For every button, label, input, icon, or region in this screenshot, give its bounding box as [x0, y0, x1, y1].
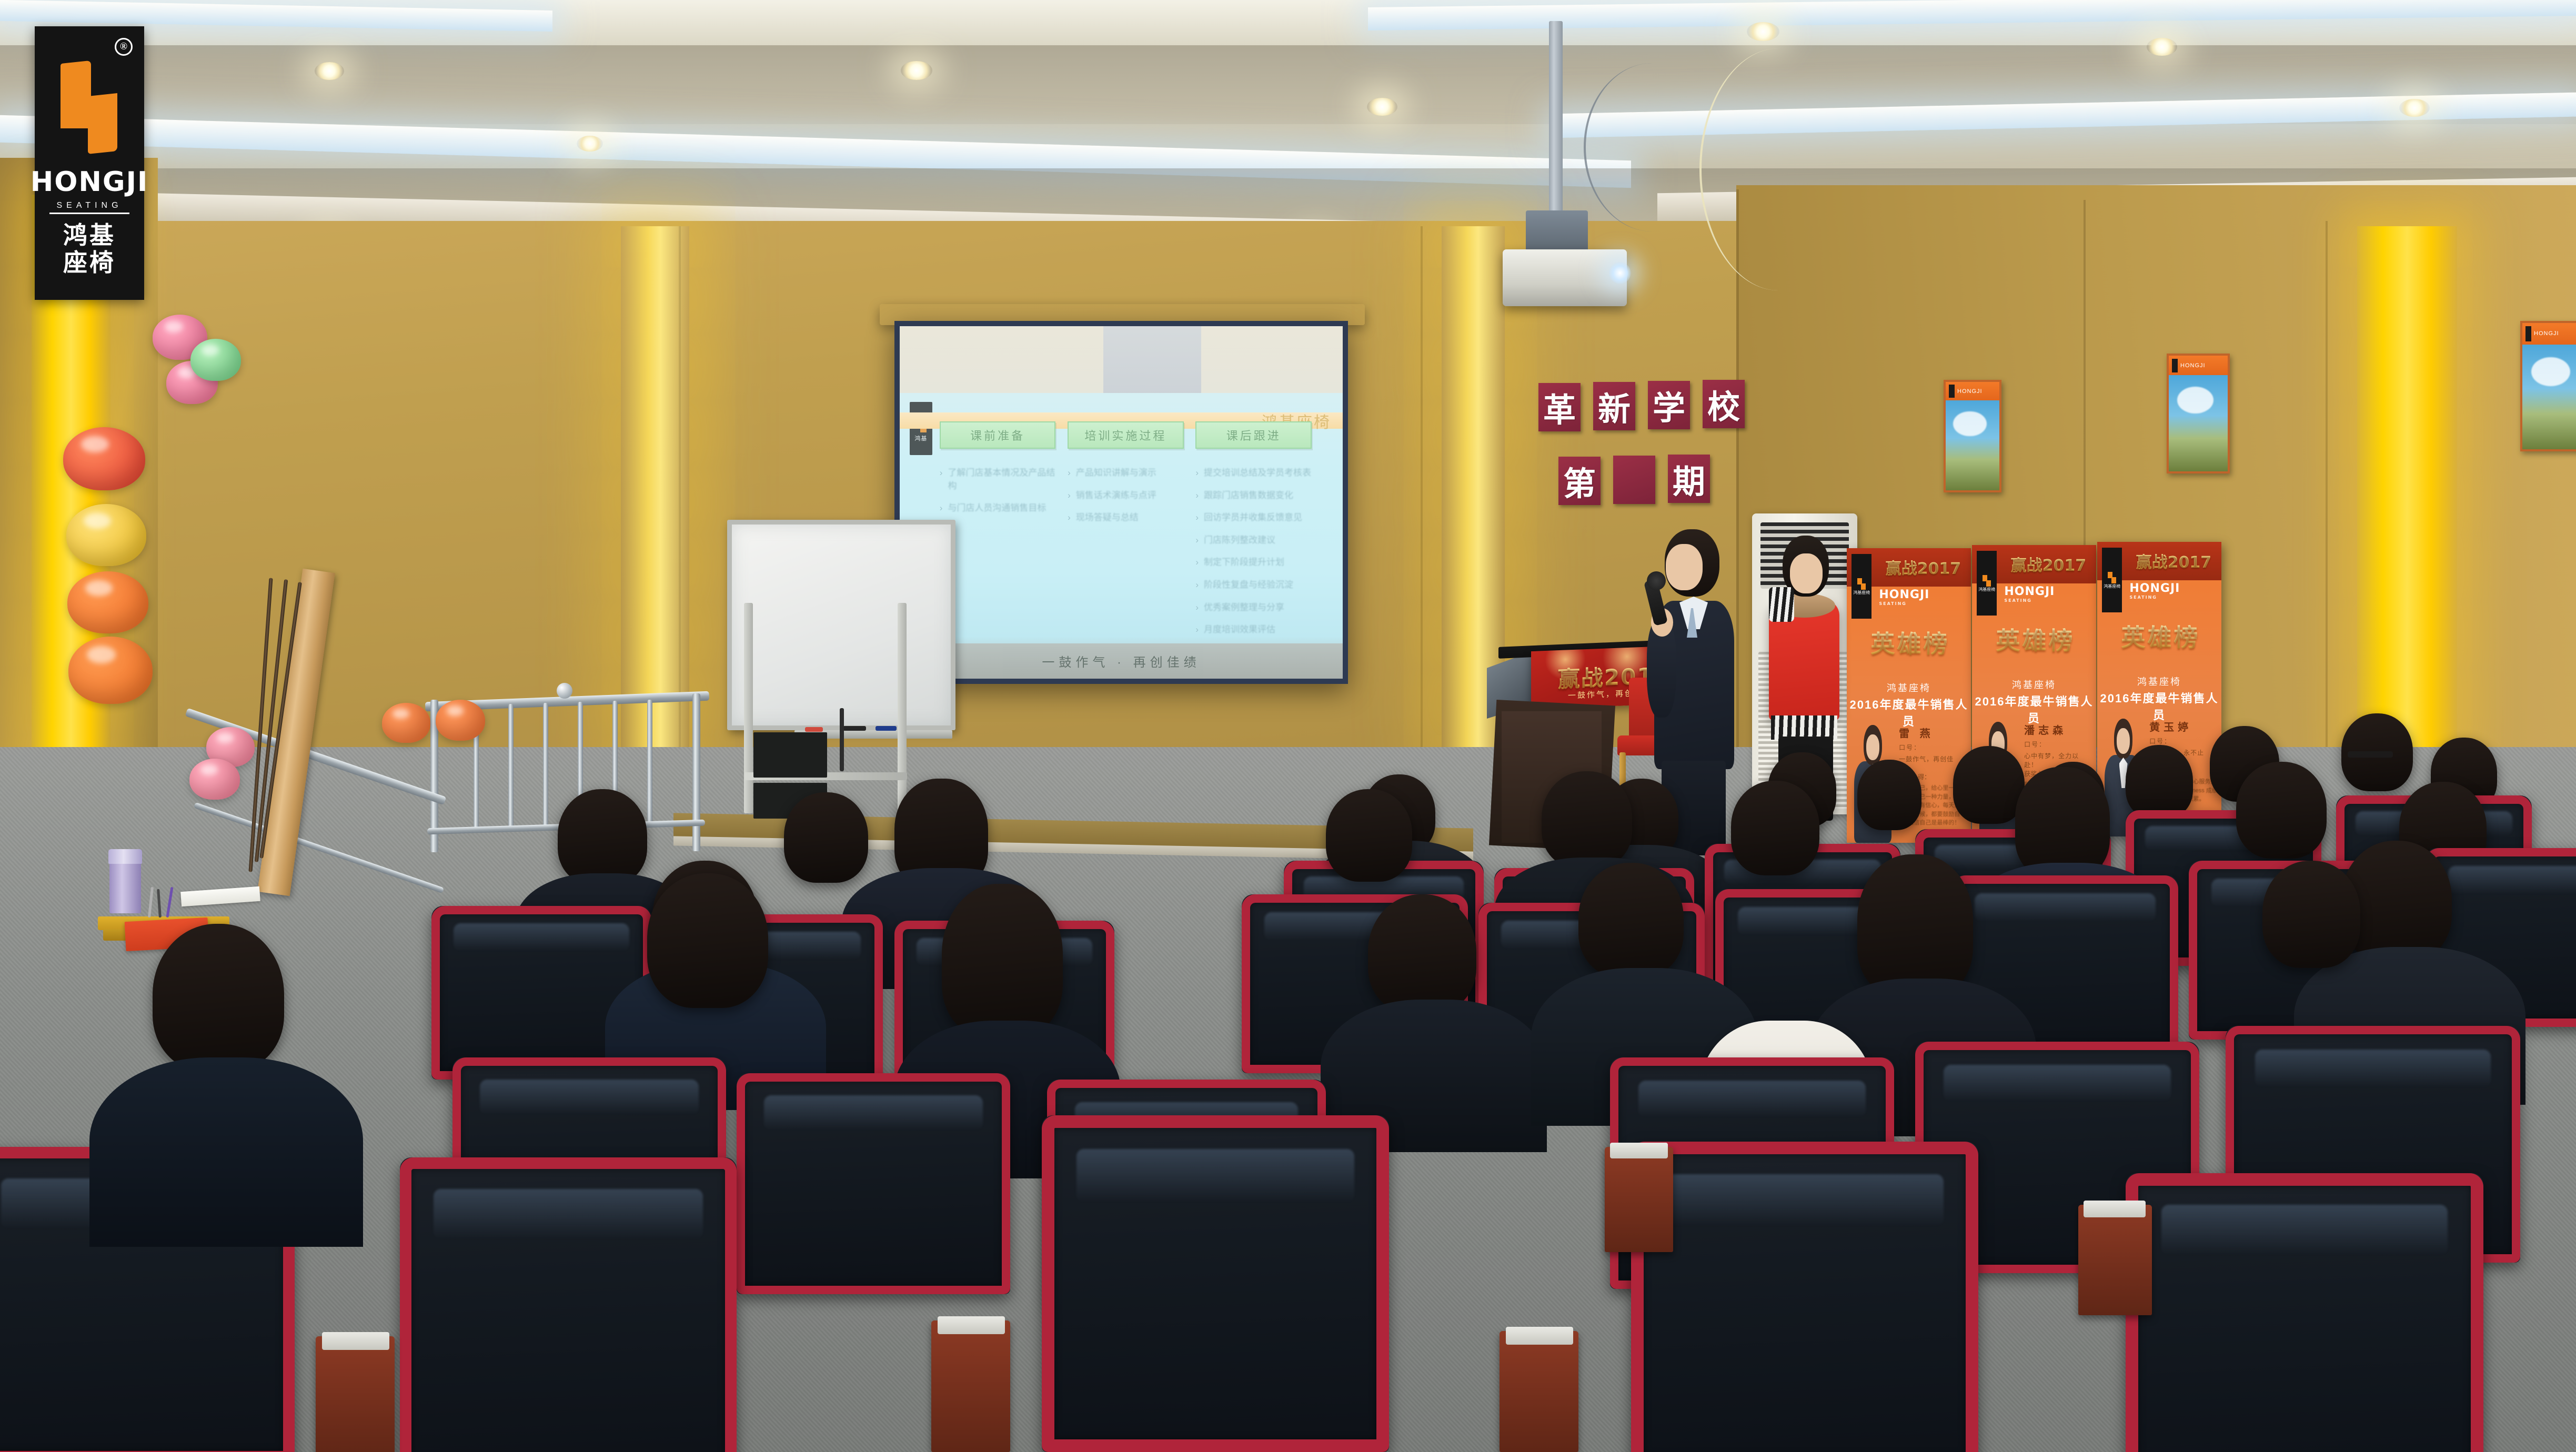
bullet-icon: ›	[940, 502, 943, 515]
downlight-6	[2399, 99, 2430, 117]
audience-head-near-3	[1368, 894, 1476, 1013]
whiteboard	[727, 520, 955, 730]
whiteboard-marker-red	[805, 727, 823, 732]
slide-column-2-header: 培训实施过程	[1068, 421, 1184, 449]
seat-armrest-pad-4	[1610, 1143, 1668, 1158]
banner-brand-text: HONGJI	[2129, 582, 2180, 595]
downlight-8	[577, 136, 603, 152]
slide-column-3-header: 课后跟进	[1195, 421, 1312, 449]
slide-bullet: ›了解门店基本情况及产品结构	[940, 467, 1056, 492]
slide-columns: 课前准备 ›了解门店基本情况及产品结构 ›与门店人员沟通销售目标 培训实施过程 …	[940, 421, 1312, 640]
bullet-icon: ›	[1068, 489, 1071, 502]
seat-armrest-1	[316, 1336, 395, 1452]
audience-head-mid-1	[558, 789, 647, 885]
banner-subline-2: 2016年度最牛销售人员	[1972, 692, 2096, 726]
banner-slogan-label: 口号：	[2149, 737, 2171, 745]
banner-brand-sub: SEATING	[2129, 595, 2180, 600]
projector-mount-pipe	[1549, 21, 1563, 242]
wall-poster-1: HONGJI	[1944, 380, 2001, 492]
balloon-orange-1	[67, 571, 148, 633]
seat-sheen	[1666, 1174, 1944, 1226]
whiteboard-surface	[732, 525, 951, 725]
poster-image	[2522, 345, 2576, 449]
slide-bullet: ›月度培训效果评估	[1195, 623, 1312, 637]
projector-cable-yellow	[1699, 48, 1857, 290]
slide-column-3-list: ›提交培训总结及学员考核表 ›跟踪门店销售数据变化 ›回访学员并收集反馈意见 ›…	[1195, 467, 1312, 637]
audience-head-back-4	[1857, 760, 1921, 830]
banner-subline-1: 鸿基座椅	[1972, 678, 2096, 691]
slide-bullet: ›阶段性复盘与经验沉淀	[1195, 579, 1312, 592]
slide-bullet: ›提交培训总结及学员考核表	[1195, 467, 1312, 480]
audience-head-near-4	[1578, 863, 1684, 977]
balloon-yellow-1	[66, 504, 146, 566]
slide-bullet-text: 跟踪门店销售数据变化	[1204, 489, 1312, 502]
slide-bullet-text: 优秀案例整理与分享	[1204, 601, 1312, 614]
slide-bullet: ›制定下阶段提升计划	[1195, 556, 1312, 569]
seat-sheen	[454, 923, 629, 951]
projector	[1503, 249, 1627, 306]
poster-cloud-shape	[1953, 411, 1986, 437]
audience-head-near-5	[1857, 854, 1973, 996]
wall-sign-char-2: 新	[1593, 382, 1635, 430]
audience-head-white-jacket	[2262, 861, 2360, 968]
banner-subline-1: 鸿基座椅	[2097, 674, 2221, 688]
bullet-icon: ›	[1195, 579, 1199, 592]
bullet-icon: ›	[1195, 489, 1199, 502]
seat-near-2	[737, 1073, 1010, 1294]
poster-cloud-shape	[2531, 357, 2570, 387]
whiteboard-leg-right	[898, 603, 907, 813]
balloon-orange-3	[382, 703, 430, 743]
slide-bullet: ›门店陈列整改建议	[1195, 534, 1312, 547]
banner-logo: 鸿基座椅	[1977, 551, 1997, 616]
slide-gray-block	[1103, 326, 1201, 393]
poster-header: HONGJI	[1946, 382, 1999, 400]
projector-lens	[1609, 262, 1631, 284]
assistant-striped-top	[1769, 587, 1794, 622]
poster-image	[1946, 400, 1999, 490]
banner-brand-en: HONGJISEATING	[2004, 585, 2055, 603]
whiteboard-eraser-strap	[840, 708, 844, 771]
slide-bullet-text: 现场答疑与总结	[1076, 511, 1184, 525]
banner-subline-2: 2016年度最牛销售人员	[2097, 689, 2221, 723]
projector-cable-gray	[1584, 63, 1720, 231]
seat-armrest-5	[2078, 1205, 2152, 1315]
stair-rail-knob	[557, 683, 572, 699]
seat-sheen	[2161, 1205, 2448, 1255]
seat-armrest-pad-1	[322, 1332, 389, 1350]
logo-divider	[49, 213, 129, 214]
poster-brand: HONGJI	[2534, 330, 2559, 337]
banner-logo-cn: 鸿基座椅	[1853, 591, 1870, 595]
slide-bullet-text: 阶段性复盘与经验沉淀	[1204, 579, 1312, 592]
eyeglasses-icon	[2348, 751, 2393, 758]
seat-sheen	[764, 1095, 983, 1131]
banner-subline-1: 鸿基座椅	[1847, 681, 1971, 694]
slide-logo-cn: 鸿基	[914, 434, 927, 442]
slide-bullet-text: 制定下阶段提升计划	[1204, 556, 1312, 569]
poster-logo-icon	[2172, 359, 2178, 372]
slide-footer: 一鼓作气 · 再创佳绩	[900, 643, 1343, 679]
poster-logo-icon	[2525, 326, 2531, 341]
wall-seam-5	[2326, 221, 2328, 821]
slide-bullet: ›销售话术演练与点评	[1068, 489, 1184, 502]
slide-bullet: ›产品知识讲解与演示	[1068, 467, 1184, 480]
seat-sheen	[2448, 866, 2576, 894]
seat-armrest-pad-5	[2084, 1201, 2146, 1217]
wall-poster-2: HONGJI	[2167, 354, 2230, 473]
brand-mark-icon	[2108, 572, 2116, 583]
banner-slogan-label: 口号：	[1899, 743, 1921, 752]
brand-name-cn-line1: 鸿基	[63, 223, 116, 249]
banner-slogan-label: 口号：	[2024, 740, 2046, 749]
balloon-green-1	[190, 339, 241, 381]
wall-poster-3: HONGJI	[2520, 321, 2576, 451]
banner-brand-text: HONGJI	[2004, 585, 2055, 598]
seat-sheen	[1076, 1149, 1354, 1203]
balloon-orange-4	[436, 700, 485, 741]
audience-head-mid-3	[784, 792, 868, 883]
audience-head-front-2	[647, 873, 768, 1008]
seat-armrest-pad-2	[938, 1316, 1005, 1334]
banner-brand-en: HONGJISEATING	[2129, 582, 2180, 600]
wall-sign-row2-blank	[1613, 456, 1655, 504]
audience-head-mid-4	[1326, 789, 1412, 882]
audience-head-mid-8	[2236, 762, 2327, 859]
balloon-orange-2	[68, 637, 153, 704]
slide-bullet-text: 门店陈列整改建议	[1204, 534, 1312, 547]
slide-bullet-text: 与门店人员沟通销售目标	[948, 502, 1055, 515]
slide-column-3: 课后跟进 ›提交培训总结及学员考核表 ›跟踪门店销售数据变化 ›回访学员并收集反…	[1195, 421, 1312, 640]
banner-hero-title: 英雄榜	[2107, 619, 2214, 653]
projection-screen-surface: 鸿基 鸿基座椅 课前准备 ›了解门店基本情况及产品结构 ›与门店人员沟通销售目标…	[900, 326, 1343, 679]
poster-brand: HONGJI	[1957, 388, 1983, 395]
assistant-face	[1790, 553, 1823, 593]
slide-bullet: ›与门店人员沟通销售目标	[940, 502, 1056, 515]
audience-head-mid-6	[1731, 781, 1819, 875]
slide-bullet-text: 销售话术演练与点评	[1076, 489, 1184, 502]
slide-column-1-header: 课前准备	[940, 421, 1056, 449]
whiteboard-black-panel-1	[753, 732, 827, 778]
audience-head-back-7	[2126, 745, 2193, 819]
registered-trademark-icon: ®	[115, 38, 133, 56]
presenter-face	[1666, 544, 1703, 590]
bullet-icon: ›	[1068, 511, 1071, 525]
banner-headline: 赢战2017	[2011, 552, 2087, 576]
stair-rail-baluster-3	[543, 703, 548, 829]
audience-head-back-5	[1953, 746, 2025, 824]
bullet-icon: ›	[1195, 556, 1199, 569]
wall-sign-char-1: 革	[1538, 383, 1581, 431]
seat-armrest-4	[1605, 1147, 1673, 1252]
wall-seam-2	[1421, 226, 1423, 779]
bullet-icon: ›	[1195, 623, 1199, 637]
seat-sheen	[1638, 1081, 1866, 1117]
poster-header: HONGJI	[2522, 323, 2576, 345]
slide-column-2: 培训实施过程 ›产品知识讲解与演示 ›销售话术演练与点评 ›现场答疑与总结	[1068, 421, 1184, 640]
brand-name-en: HONGJI	[31, 166, 149, 198]
seat-front-3	[1042, 1115, 1389, 1452]
bullet-icon: ›	[940, 467, 943, 492]
brand-mark-icon	[1857, 578, 1866, 590]
banner-brand-sub: SEATING	[2004, 598, 2055, 603]
balloon-red-1	[63, 427, 145, 490]
thermos-cap	[108, 849, 142, 864]
bullet-icon: ›	[1195, 467, 1199, 480]
wall-sign-row2-char-3: 期	[1668, 455, 1710, 503]
brand-tagline-en: SEATING	[56, 201, 122, 210]
microphone-head	[1647, 571, 1666, 590]
seat-front-5	[2126, 1173, 2483, 1452]
slide-bullet-text: 回访学员并收集反馈意见	[1204, 511, 1312, 525]
slide-column-1: 课前准备 ›了解门店基本情况及产品结构 ›与门店人员沟通销售目标	[940, 421, 1056, 640]
banner-logo-cn: 鸿基座椅	[2104, 584, 2120, 589]
audience-shoulders-front-1	[89, 1057, 363, 1247]
seat-armrest-2	[931, 1320, 1010, 1452]
banner-headline: 赢战2017	[1886, 556, 1961, 579]
banner-hero-title: 英雄榜	[1857, 625, 1964, 660]
brand-name-cn-line2: 座椅	[63, 250, 116, 276]
whiteboard-marker-blue	[876, 726, 897, 731]
poster-header: HONGJI	[2169, 356, 2228, 375]
logo-lower-stroke	[88, 93, 117, 154]
conference-room-photo: 鸿基 鸿基座椅 课前准备 ›了解门店基本情况及产品结构 ›与门店人员沟通销售目标…	[0, 0, 2576, 1452]
bullet-icon: ›	[1195, 511, 1199, 525]
bullet-icon: ›	[1195, 601, 1199, 614]
audience-head-mid-5	[1542, 771, 1632, 868]
stair-rail-post-right	[692, 693, 700, 851]
thermos-bottle	[109, 861, 141, 913]
downlight-4	[1747, 22, 1779, 41]
balloon-pink-4	[189, 759, 240, 800]
seat-armrest-pad-3	[1506, 1327, 1573, 1345]
brand-mark-icon	[1983, 575, 1991, 587]
bullet-icon: ›	[1068, 467, 1071, 480]
glow-panel-center-left	[621, 226, 689, 815]
audience-head-front-1	[153, 924, 284, 1071]
whiteboard-leg-left	[744, 603, 753, 813]
poster-brand: HONGJI	[2180, 362, 2206, 369]
banner-hero-title: 英雄榜	[1982, 622, 2089, 657]
banner-subline-2: 2016年度最牛销售人员	[1847, 695, 1971, 729]
seat-sheen	[2255, 1050, 2491, 1087]
banner-brand-text: HONGJI	[1879, 588, 1929, 601]
audience-head-mid-7	[2015, 767, 2110, 878]
banner-person-name: 黄玉婷	[2149, 719, 2192, 734]
wall-sign-row2-char-1: 第	[1558, 457, 1601, 505]
slide-bullet-text: 提交培训总结及学员考核表	[1204, 467, 1312, 480]
banner-person-name: 潘志森	[2024, 722, 2067, 737]
slide-bullet: ›现场答疑与总结	[1068, 511, 1184, 525]
slide-bullet: ›优秀案例整理与分享	[1195, 601, 1312, 614]
seat-front-2	[400, 1157, 737, 1452]
person-face	[2117, 728, 2130, 754]
slide-column-2-list: ›产品知识讲解与演示 ›销售话术演练与点评 ›现场答疑与总结	[1068, 467, 1184, 525]
banner-brand-en: HONGJISEATING	[1879, 588, 1929, 606]
slide-bullet: ›回访学员并收集反馈意见	[1195, 511, 1312, 525]
downlight-1	[315, 62, 344, 80]
audience-head-near-2	[942, 884, 1063, 1036]
banner-logo-cn: 鸿基座椅	[1978, 588, 1995, 592]
downlight-5	[2147, 38, 2177, 56]
wall-sign-char-4: 校	[1703, 380, 1745, 428]
hongji-logo-icon	[61, 62, 118, 153]
banner-logo: 鸿基座椅	[1851, 554, 1871, 619]
banner-brand-sub: SEATING	[1879, 601, 1929, 606]
whiteboard-marker-black	[843, 726, 866, 731]
slide-column-1-list: ›了解门店基本情况及产品结构 ›与门店人员沟通销售目标	[940, 467, 1056, 515]
slide-bullet-text: 月度培训效果评估	[1204, 623, 1312, 637]
person-face	[1866, 734, 1880, 760]
stair-rail-baluster-6	[647, 700, 652, 826]
poster-image	[2169, 375, 2228, 471]
slide-bullet: ›跟踪门店销售数据变化	[1195, 489, 1312, 502]
brand-watermark: ® HONGJI SEATING 鸿基 座椅	[35, 26, 144, 300]
banner-person-name: 雷 燕	[1899, 725, 1934, 740]
seat-sheen	[1975, 893, 2156, 922]
banner-logo: 鸿基座椅	[2102, 548, 2122, 612]
stair-rail-baluster-2	[508, 704, 514, 830]
poster-logo-icon	[1949, 385, 1955, 398]
projection-screen: 鸿基 鸿基座椅 课前准备 ›了解门店基本情况及产品结构 ›与门店人员沟通销售目标…	[894, 321, 1348, 684]
poster-cloud-shape	[2177, 387, 2213, 414]
downlight-3	[1367, 98, 1397, 116]
slide-bullet-text: 产品知识讲解与演示	[1076, 467, 1184, 480]
seat-armrest-3	[1500, 1331, 1578, 1452]
seat-sheen	[480, 1080, 699, 1115]
seat-front-4	[1631, 1142, 1978, 1452]
banner-headline: 赢战2017	[2136, 549, 2212, 572]
wall-sign-char-3: 学	[1648, 381, 1690, 429]
downlight-2	[901, 61, 932, 80]
seat-sheen	[434, 1189, 703, 1239]
bullet-icon: ›	[1195, 534, 1199, 547]
slide-bullet-text: 了解门店基本情况及产品结构	[948, 467, 1055, 492]
seat-sheen	[1944, 1065, 2171, 1102]
